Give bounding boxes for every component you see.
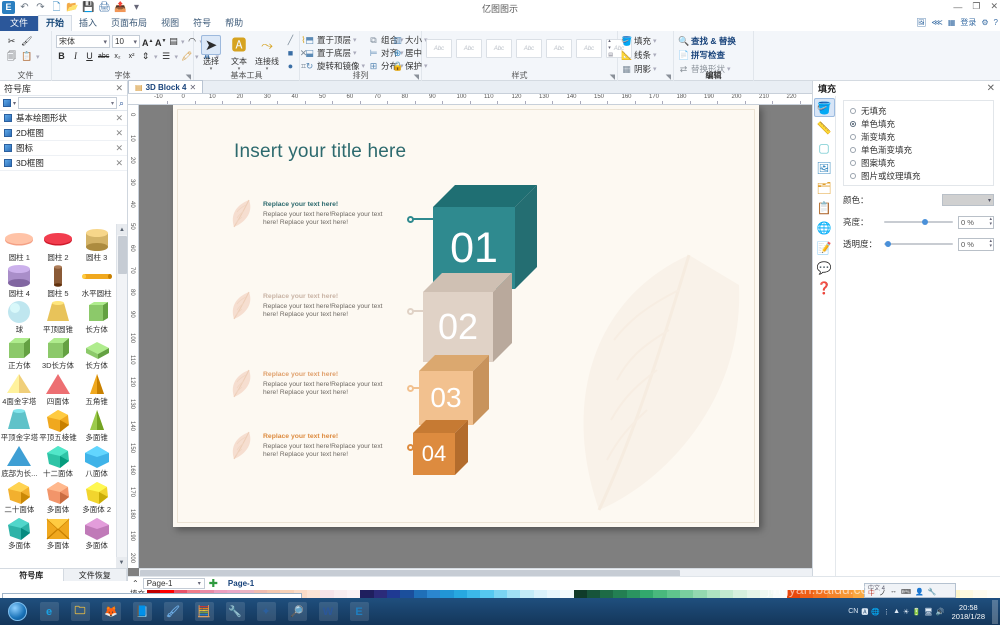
palette-color-37[interactable] <box>640 590 653 598</box>
bold-icon[interactable]: B <box>56 51 67 62</box>
fill-option-0[interactable]: 无填充 <box>850 104 987 117</box>
windows-orb-icon <box>8 602 27 621</box>
font-size-combo[interactable]: 10 ▾ <box>112 35 140 48</box>
cloud-icon[interactable]: ▦ <box>948 18 956 27</box>
library-dropdown-icon[interactable] <box>3 99 11 107</box>
palette-color-13[interactable] <box>320 590 333 598</box>
title-bar: E↶↷🗋📂💾🖨📤▾ 亿图图示 — ❐ ✕ <box>0 0 1000 16</box>
line-shape-icon[interactable]: ╱ <box>285 35 296 46</box>
palette-color-45[interactable] <box>747 590 760 598</box>
shrink-font-icon[interactable]: A▼ <box>155 36 166 47</box>
signin-label[interactable]: 登录 <box>960 17 976 28</box>
style-gallery-down[interactable]: ▾ <box>608 45 613 51</box>
line-button[interactable]: 📐线条▾ <box>621 49 657 61</box>
item-body[interactable]: Replace your text here!Replace your text… <box>263 381 387 397</box>
shape-item-3D长方体[interactable]: 3D长方体 <box>39 335 77 370</box>
cube-front-face: 03 <box>419 371 473 425</box>
left-panel-tabs: 符号库文件恢复 <box>0 568 127 581</box>
shape-thumbnail <box>81 227 113 253</box>
shape-row: 圆柱 4圆柱 5水平圆柱 <box>0 263 116 298</box>
underline-icon[interactable]: U <box>84 51 95 62</box>
search-icon[interactable]: ⌕ <box>119 98 124 109</box>
property-spinner[interactable]: 0 %▴▾ <box>958 238 994 251</box>
item-heading[interactable]: Replace your text here! <box>263 433 338 441</box>
number-cube-04[interactable]: 04 <box>413 420 468 475</box>
style-gallery-up[interactable]: ▴ <box>608 38 613 44</box>
fill-option-1[interactable]: 单色填充 <box>850 117 987 130</box>
shape-row: 圆柱 1圆柱 2圆柱 3 <box>0 227 116 262</box>
fill-panel-close[interactable]: ✕ <box>987 83 995 94</box>
ruler-tick: 80 <box>402 94 409 100</box>
color-swatch-button[interactable]: ▾ <box>942 194 994 206</box>
connector-endpoint[interactable] <box>407 308 414 315</box>
palette-color-62[interactable] <box>973 590 986 598</box>
paste-icon[interactable]: 📋 <box>21 51 32 62</box>
library-item-0[interactable]: 基本绘图形状✕ <box>0 111 127 126</box>
comment-icon[interactable]: 💬 <box>814 258 835 277</box>
palette-color-22[interactable] <box>440 590 453 598</box>
settings-gear-icon[interactable]: ⚙ <box>981 18 988 27</box>
leaf-icon <box>228 430 256 460</box>
tray-icon[interactable]: 🔊 <box>936 608 945 616</box>
line-style-icon: 📐 <box>621 50 632 61</box>
item-body[interactable]: Replace your text here!Replace your text… <box>263 443 387 459</box>
ime-button-3[interactable]: ⌨ <box>901 588 911 598</box>
shape-label: 底部为长... <box>1 469 37 478</box>
tray-icon[interactable]: ☀ <box>903 608 909 616</box>
palette-color-46[interactable] <box>760 590 773 598</box>
text-case-icon[interactable]: ▤ <box>168 36 179 47</box>
palette-color-42[interactable] <box>707 590 720 598</box>
tray-icon[interactable]: 🅰 <box>861 607 868 617</box>
document-tab-label: 3D Block 4 <box>146 83 187 92</box>
shape-item-长方体[interactable]: 长方体 <box>78 335 116 370</box>
ribbon-tab-插入[interactable]: 插入 <box>72 16 104 31</box>
palette-color-47[interactable] <box>773 590 786 598</box>
palette-color-31[interactable] <box>560 590 573 598</box>
style-gallery-more[interactable]: ▤ <box>608 52 613 58</box>
shape-thumbnail <box>81 371 113 397</box>
cube-number: 02 <box>438 306 478 348</box>
shape-item-水平圆柱[interactable]: 水平圆柱 <box>78 263 116 298</box>
page-selector[interactable]: Page-1 ▾ <box>143 578 205 589</box>
italic-icon[interactable]: I <box>70 51 81 62</box>
style-preset-3[interactable]: Abc <box>486 39 512 58</box>
fill-panel-body: 无填充单色填充渐变填充单色渐变填充图案填充图片或纹理填充 颜色：▾亮度：0 %▴… <box>837 96 1000 581</box>
palette-color-44[interactable] <box>733 590 746 598</box>
taskbar-clock[interactable]: 20:582018/1/28 <box>948 603 989 621</box>
style-preset-5[interactable]: Abc <box>546 39 572 58</box>
vruler-tick: 140 <box>129 421 135 431</box>
cube-number: 01 <box>450 224 498 273</box>
left-panel-tab-符号库[interactable]: 符号库 <box>0 569 64 581</box>
palette-color-18[interactable] <box>387 590 400 598</box>
page-selector-dropdown: ▾ <box>194 580 201 587</box>
help-icon[interactable]: ? <box>994 18 998 27</box>
shape-item-平顶圆锥[interactable]: 平顶圆锥 <box>39 299 77 334</box>
tray-icon[interactable]: 🖥 <box>924 608 933 616</box>
palette-color-40[interactable] <box>680 590 693 598</box>
edraw-icon[interactable]: E <box>344 600 374 624</box>
item-heading[interactable]: Replace your text here! <box>263 371 338 379</box>
ribbon-tab-页面布局[interactable]: 页面布局 <box>104 16 154 31</box>
format-painter-icon[interactable]: 🖌 <box>21 36 32 47</box>
palette-color-27[interactable] <box>507 590 520 598</box>
cut-icon[interactable]: ✂ <box>6 36 17 47</box>
send-to-back-button[interactable]: ⬓置于底层▾ <box>304 47 366 59</box>
ribbon-tab-帮助[interactable]: 帮助 <box>218 16 250 31</box>
grow-font-icon[interactable]: A▲ <box>142 36 153 47</box>
shape-item-平顶五棱锥[interactable]: 平顶五棱锥 <box>39 407 77 442</box>
current-page-tab[interactable]: Page-1 <box>222 579 254 588</box>
symbol-library-header: 符号库 ✕ <box>0 81 127 96</box>
diagram-title[interactable]: Insert your title here <box>234 141 406 163</box>
ribbon-tab-符号[interactable]: 符号 <box>186 16 218 31</box>
connector-endpoint[interactable] <box>407 216 414 223</box>
tray-icon[interactable]: 🔋 <box>912 608 921 616</box>
shape-item-圆柱 3[interactable]: 圆柱 3 <box>78 227 116 262</box>
shape-item-球[interactable]: 球 <box>0 299 38 334</box>
ruler-minor-tick <box>167 101 168 104</box>
fill-type-options: 无填充单色填充渐变填充单色渐变填充图案填充图片或纹理填充 <box>843 100 994 186</box>
palette-color-19[interactable] <box>400 590 413 598</box>
tray-icon[interactable]: ▲ <box>893 608 900 615</box>
library-item-1[interactable]: 2D框图✕ <box>0 126 127 141</box>
shape-label: 多面体 <box>85 541 108 550</box>
item-heading[interactable]: Replace your text here! <box>263 293 338 301</box>
library-item-close[interactable]: ✕ <box>115 128 123 139</box>
shape-thumbnail <box>81 515 113 541</box>
layers-icon[interactable]: 🗂 <box>814 178 835 197</box>
styles-dialog-launcher[interactable]: ◥ <box>610 73 615 81</box>
shape-thumbnail <box>3 263 35 289</box>
document-tab[interactable]: ▤ 3D Block 4 ✕ <box>128 80 203 93</box>
library-item-3[interactable]: 3D框图✕ <box>0 156 127 171</box>
slider-knob[interactable] <box>885 241 891 247</box>
shape-item-底部为长...[interactable]: 底部为长... <box>0 443 38 478</box>
fill-option-3[interactable]: 单色渐变填充 <box>850 143 987 156</box>
item-body[interactable]: Replace your text here!Replace your text… <box>263 211 387 227</box>
palette-color-30[interactable] <box>547 590 560 598</box>
palette-color-25[interactable] <box>480 590 493 598</box>
font-family-combo[interactable]: 宋体 ▾ <box>56 35 110 48</box>
leaf-icon <box>228 198 256 228</box>
palette-color-32[interactable] <box>574 590 587 598</box>
shape-item-正方体[interactable]: 正方体 <box>0 335 38 370</box>
fill-option-5[interactable]: 图片或纹理填充 <box>850 169 987 182</box>
ime-button-5[interactable]: 🔧 <box>928 588 937 598</box>
library-icon <box>4 129 12 137</box>
shape-item-二十面体[interactable]: 二十面体 <box>0 479 38 514</box>
palette-color-28[interactable] <box>520 590 533 598</box>
symbol-library-close[interactable]: ✕ <box>115 83 123 94</box>
ruler-tick: 170 <box>649 94 659 100</box>
palette-color-52[interactable] <box>840 590 853 598</box>
vruler-tick: 10 <box>129 135 135 142</box>
hyperlink-icon[interactable]: 🌐 <box>814 218 835 237</box>
palette-color-51[interactable] <box>827 590 840 598</box>
shape-row: 平顶金字塔平顶五棱锥多面锥 <box>0 407 116 442</box>
palette-color-48[interactable] <box>787 590 800 598</box>
distribute-icon: ⊞ <box>368 61 379 72</box>
calculator-icon[interactable]: 🧮 <box>189 600 219 624</box>
align-icon: ⊨ <box>368 48 379 59</box>
rotate-icon: ↻ <box>304 61 315 72</box>
shape-thumbnail <box>81 407 113 433</box>
shape-item-四面体[interactable]: 四面体 <box>39 371 77 406</box>
bring-to-front-button[interactable]: ⬒置于顶层▾ <box>304 34 366 46</box>
palette-color-34[interactable] <box>600 590 613 598</box>
shape-item-十二面体[interactable]: 十二面体 <box>39 443 77 478</box>
line-label: 线条 <box>634 49 651 61</box>
file-explorer-icon[interactable]: 🗀 <box>65 600 95 624</box>
vruler-tick: 110 <box>129 355 135 365</box>
page-collapse-icon[interactable]: ⌃ <box>132 579 139 588</box>
palette-color-38[interactable] <box>653 590 666 598</box>
rectangle-shape-icon[interactable]: ■ <box>285 48 296 59</box>
library-item-label: 图标 <box>16 142 33 154</box>
shape-item-多面体[interactable]: 多面体 <box>0 515 38 550</box>
shape-item-圆柱 2[interactable]: 圆柱 2 <box>39 227 77 262</box>
palette-color-17[interactable] <box>374 590 387 598</box>
ruler-minor-tick <box>195 101 196 104</box>
radio-indicator <box>850 147 856 153</box>
ribbon-tab-文件[interactable]: 文件 <box>0 16 38 31</box>
line-icon[interactable]: 📏 <box>814 118 835 137</box>
library-item-close[interactable]: ✕ <box>115 158 123 169</box>
ribbon-tab-开始[interactable]: 开始 <box>38 15 72 31</box>
shape-scroll-down[interactable]: ▼ <box>116 557 127 568</box>
library-item-close[interactable]: ✕ <box>115 113 123 124</box>
ime-button-4[interactable]: 👤 <box>915 588 924 598</box>
tray-icon[interactable]: ⋮ <box>883 608 890 616</box>
shape-label: 二十面体 <box>4 505 34 514</box>
ruler-minor-tick <box>250 101 251 104</box>
shadow-button[interactable]: ▦阴影▾ <box>621 63 657 75</box>
style-preset-6[interactable]: Abc <box>576 39 602 58</box>
slider-knob[interactable] <box>922 219 928 225</box>
ruler-minor-tick <box>772 101 773 104</box>
palette-color-24[interactable] <box>467 590 480 598</box>
fill-button[interactable]: 🪣填充▾ <box>621 35 657 47</box>
picture-icon[interactable]: 🖼 <box>814 158 835 177</box>
tray-icon[interactable]: 🌐 <box>871 608 880 616</box>
shape-label: 五角锥 <box>85 397 108 406</box>
system-tray: CN🅰🌐⋮▲☀🔋🖥🔊20:582018/1/28 <box>848 598 998 625</box>
shape-item-长方体[interactable]: 长方体 <box>78 299 116 334</box>
cube-front-face: 02 <box>423 292 493 362</box>
library-item-2[interactable]: 图标✕ <box>0 141 127 156</box>
bullets-icon[interactable]: ☰ <box>161 51 172 62</box>
library-item-label: 3D框图 <box>16 157 44 169</box>
shape-item-多面体[interactable]: 多面体 <box>78 515 116 550</box>
shape-scroll-thumb[interactable] <box>118 236 127 274</box>
shape-item-多面体[interactable]: 多面体 <box>39 515 77 550</box>
maximize-button[interactable]: ❐ <box>972 1 980 12</box>
font-size-value: 10 <box>115 37 124 46</box>
vertical-ruler[interactable]: 0102030405060708090100110120130140150160… <box>128 105 139 568</box>
fill-option-2[interactable]: 渐变填充 <box>850 130 987 143</box>
shape-row: 底部为长...十二面体八面体 <box>0 443 116 478</box>
screenshot-icon[interactable]: 🖼 <box>916 18 926 27</box>
tray-icon[interactable]: CN <box>848 608 858 615</box>
tool-text[interactable]: 🅰 文本 ▾ <box>226 33 252 74</box>
highlight-icon[interactable]: 🖍 <box>181 51 192 62</box>
shape-row: 正方体3D长方体长方体 <box>0 335 116 370</box>
foxmail-icon[interactable]: ✦ <box>251 600 281 624</box>
vruler-tick: 80 <box>129 289 135 296</box>
shape-item-4面金字塔[interactable]: 4面金字塔 <box>0 371 38 406</box>
note-icon[interactable]: 📝 <box>814 238 835 257</box>
fill-bucket-icon: 🪣 <box>621 36 632 47</box>
palette-color-50[interactable] <box>813 590 826 598</box>
shape-thumbnail <box>3 479 35 505</box>
tool-connector[interactable]: ⤳ 连接线 ▾ <box>254 33 280 74</box>
binoculars-icon: 🔍 <box>678 36 689 47</box>
arrange-dialog-launcher[interactable]: ◥ <box>414 73 419 81</box>
connector-endpoint[interactable] <box>407 385 414 392</box>
style-preset-2[interactable]: Abc <box>456 39 482 58</box>
ruler-minor-tick <box>580 101 581 104</box>
shape-item-多面体 2[interactable]: 多面体 2 <box>78 479 116 514</box>
tool-select[interactable]: ➤ 选择 ▾ <box>198 33 224 74</box>
shape-item-圆柱 1[interactable]: 圆柱 1 <box>0 227 38 262</box>
palette-color-33[interactable] <box>587 590 600 598</box>
ribbon-group-clipboard: ✂ 🖌 🗐 📋▾ 文件 <box>0 31 52 81</box>
shape-thumbnail <box>42 407 74 433</box>
property-slider[interactable] <box>884 217 953 227</box>
superscript-icon[interactable]: x² <box>126 51 137 62</box>
strikethrough-icon[interactable]: abc <box>98 51 109 62</box>
palette-color-49[interactable] <box>800 590 813 598</box>
number-cube-03[interactable]: 03 <box>419 355 489 425</box>
start-button[interactable] <box>0 599 34 624</box>
notes-icon[interactable]: 📘 <box>127 600 157 624</box>
shape-item-多面体[interactable]: 多面体 <box>39 479 77 514</box>
shape-item-平顶金字塔[interactable]: 平顶金字塔 <box>0 407 38 442</box>
ruler-minor-tick <box>497 101 498 104</box>
ruler-tick: 200 <box>732 94 742 100</box>
fill-option-4[interactable]: 图案填充 <box>850 156 987 169</box>
palette-color-43[interactable] <box>720 590 733 598</box>
palette-color-35[interactable] <box>613 590 626 598</box>
fill-icon[interactable]: 🪣 <box>814 98 835 117</box>
palette-color-61[interactable] <box>960 590 973 598</box>
shape-grid-scrollbar[interactable]: ▲ <box>116 224 127 568</box>
close-button[interactable]: ✕ <box>990 1 998 12</box>
shape-label: 圆柱 5 <box>47 289 68 298</box>
line-spacing-icon[interactable]: ⇕ <box>140 51 151 62</box>
ribbon-group-font: 宋体 ▾ 10 ▾ A▲ A▼ ▤▾ ◠▾ B I U abc x₂ x² ⇕▾ <box>52 31 194 81</box>
firefox-icon[interactable]: 🦊 <box>96 600 126 624</box>
shape-item-圆柱 4[interactable]: 圆柱 4 <box>0 263 38 298</box>
ribbon-group-arrange: ⬒置于顶层▾ ⧉组合▾ ⬓置于底层▾ ⊨对齐▾ ↻旋转和镜像▾ ⊞分布▾ ▥大小… <box>300 31 422 81</box>
ime-button-2[interactable]: ↔ <box>890 588 897 598</box>
shape-style-launcher[interactable]: ◥ <box>666 73 671 81</box>
library-icon <box>4 114 12 122</box>
symbol-search-input[interactable]: ▾ <box>18 97 117 109</box>
palette-color-29[interactable] <box>534 590 547 598</box>
tool-icon[interactable]: 🔧 <box>220 600 250 624</box>
spinner-down[interactable]: ▾ <box>989 244 992 249</box>
ruler-minor-tick <box>222 101 223 104</box>
palette-color-39[interactable] <box>667 590 680 598</box>
cube-number: 04 <box>422 441 446 467</box>
shape-item-多面锥[interactable]: 多面锥 <box>78 407 116 442</box>
spell-check-button[interactable]: 📄拼写检查 <box>678 49 736 61</box>
ruler-tick: 190 <box>704 94 714 100</box>
spell-check-icon: 📄 <box>678 50 689 61</box>
left-panel-tab-文件恢复[interactable]: 文件恢复 <box>64 569 128 581</box>
copy-icon[interactable]: 🗐 <box>6 51 17 62</box>
document-page[interactable]: Insert your title here Replace your text… <box>173 105 759 527</box>
document-tab-close[interactable]: ✕ <box>189 83 196 92</box>
palette-color-26[interactable] <box>494 590 507 598</box>
lock-icon: 🔒 <box>392 61 403 72</box>
shape-item-五角锥[interactable]: 五角锥 <box>78 371 116 406</box>
ruler-tick: 130 <box>539 94 549 100</box>
vruler-tick: 30 <box>129 179 135 186</box>
document-icon: ▤ <box>135 83 143 92</box>
fill-option-label: 单色渐变填充 <box>861 144 912 156</box>
taskbar: e🗀🦊📘🖌🧮🔧✦🔎WE CN🅰🌐⋮▲☀🔋🖥🔊20:582018/1/28 <box>0 598 1000 625</box>
library-item-close[interactable]: ✕ <box>115 143 123 154</box>
subscript-icon[interactable]: x₂ <box>112 51 123 62</box>
bring-front-icon: ⬒ <box>304 35 315 46</box>
palette-color-12[interactable] <box>307 590 320 598</box>
palette-color-14[interactable] <box>334 590 347 598</box>
shape-item-圆柱 5[interactable]: 圆柱 5 <box>39 263 77 298</box>
palette-color-16[interactable] <box>360 590 373 598</box>
property-spinner[interactable]: 0 %▴▾ <box>958 216 994 229</box>
shape-label: 多面体 <box>47 505 70 514</box>
show-desktop-button[interactable] <box>992 600 998 624</box>
style-preset-4[interactable]: Abc <box>516 39 542 58</box>
shape-scroll-up[interactable]: ▲ <box>117 224 127 235</box>
search-tool-icon[interactable]: 🔎 <box>282 600 312 624</box>
shadow-icon[interactable]: ▢ <box>814 138 835 157</box>
share-icon[interactable]: ⋘ <box>931 18 942 27</box>
palette-color-21[interactable] <box>427 590 440 598</box>
palette-color-23[interactable] <box>454 590 467 598</box>
style-preset-1[interactable]: Abc <box>426 39 452 58</box>
help-icon[interactable]: ❓ <box>814 278 835 297</box>
palette-color-63[interactable] <box>987 590 1000 598</box>
palette-color-41[interactable] <box>693 590 706 598</box>
text-icon[interactable]: 📋 <box>814 198 835 217</box>
number-cube-02[interactable]: 02 <box>423 273 512 362</box>
add-page-button[interactable]: ✚ <box>209 577 218 590</box>
spinner-down[interactable]: ▾ <box>989 222 992 227</box>
palette-color-20[interactable] <box>414 590 427 598</box>
minimize-button[interactable]: — <box>953 2 962 12</box>
shape-item-八面体[interactable]: 八面体 <box>78 443 116 478</box>
palette-color-15[interactable] <box>347 590 360 598</box>
property-slider[interactable] <box>884 239 953 249</box>
radio-indicator <box>850 134 856 140</box>
ribbon-tab-视图[interactable]: 视图 <box>154 16 186 31</box>
item-heading[interactable]: Replace your text here! <box>263 201 338 209</box>
palette-color-36[interactable] <box>627 590 640 598</box>
find-replace-button[interactable]: 🔍查找 & 替换 <box>678 35 736 47</box>
cube-number: 03 <box>430 382 461 414</box>
fill-label: 填充 <box>634 35 651 47</box>
paint-icon[interactable]: 🖌 <box>158 600 188 624</box>
word-icon[interactable]: W <box>313 600 343 624</box>
center-label: 居中 <box>405 47 422 59</box>
internet-explorer-icon[interactable]: e <box>34 600 64 624</box>
item-body[interactable]: Replace your text here!Replace your text… <box>263 303 387 319</box>
